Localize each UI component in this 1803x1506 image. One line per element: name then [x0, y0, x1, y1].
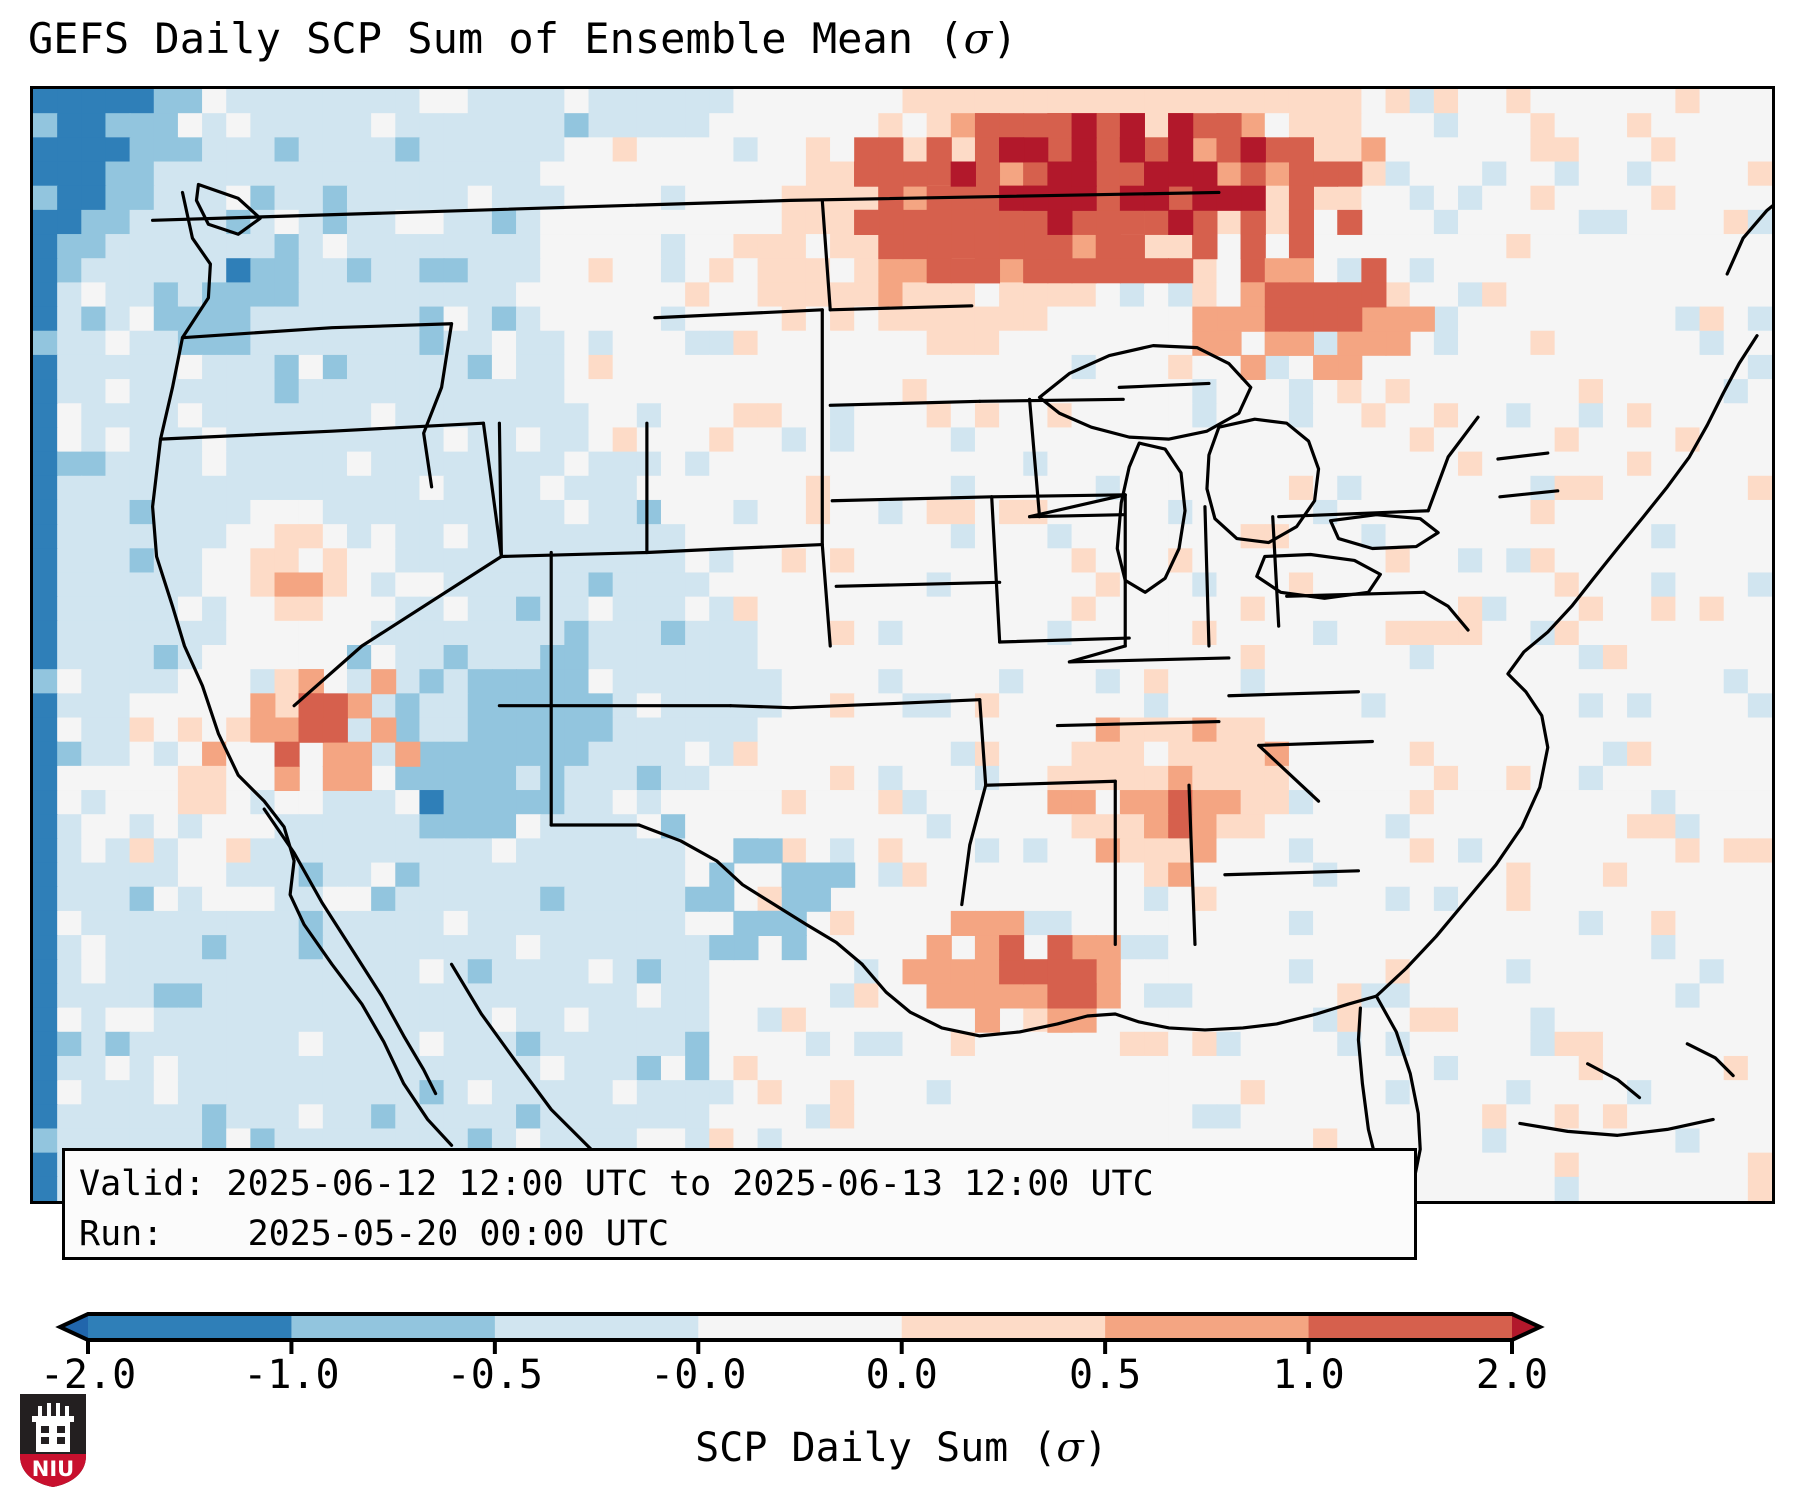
grid-cell — [878, 113, 903, 138]
grid-cell — [57, 1080, 82, 1105]
grid-cell — [1289, 210, 1314, 235]
grid-cell — [733, 186, 758, 211]
grid-cell — [516, 645, 541, 670]
grid-cell — [1555, 959, 1580, 984]
grid-cell — [395, 693, 420, 718]
grid-cell — [1386, 742, 1411, 767]
grid-cell — [516, 621, 541, 646]
grid-cell — [1410, 911, 1435, 936]
grid-cell — [419, 162, 444, 187]
grid-cell — [130, 258, 155, 283]
grid-cell — [323, 403, 348, 428]
grid-cell — [927, 282, 952, 307]
grid-cell — [927, 1032, 952, 1057]
grid-cell — [903, 935, 928, 960]
map-canvas[interactable] — [33, 89, 1772, 1201]
colorbar-svg[interactable] — [0, 1300, 1803, 1360]
grid-cell — [1192, 137, 1217, 162]
grid-cell — [1410, 307, 1435, 332]
grid-cell — [468, 355, 493, 380]
grid-cell — [1579, 983, 1604, 1008]
grid-cell — [1627, 887, 1652, 912]
grid-cell — [733, 113, 758, 138]
grid-cell — [1289, 959, 1314, 984]
grid-cell — [806, 983, 831, 1008]
grid-cell — [154, 838, 179, 863]
grid-cell — [1265, 476, 1290, 501]
grid-cell — [1337, 935, 1362, 960]
grid-cell — [371, 476, 396, 501]
grid-cell — [1458, 669, 1483, 694]
grid-cell — [927, 113, 952, 138]
grid-cell — [1144, 524, 1169, 549]
colorbar[interactable] — [0, 1300, 1803, 1360]
grid-cell — [226, 500, 251, 525]
grid-cell — [347, 331, 372, 356]
grid-cell — [709, 379, 734, 404]
grid-cell — [927, 500, 952, 525]
grid-cell — [1120, 355, 1145, 380]
grid-cell — [685, 766, 710, 791]
grid-cell — [661, 282, 686, 307]
grid-cell — [1047, 1056, 1072, 1081]
grid-cell — [347, 693, 372, 718]
grid-cell — [1096, 693, 1121, 718]
grid-cell — [709, 935, 734, 960]
grid-cell — [878, 838, 903, 863]
grid-cell — [613, 234, 638, 259]
grid-cell — [1241, 113, 1266, 138]
grid-cell — [806, 1056, 831, 1081]
grid-cell — [492, 452, 517, 477]
grid-cell — [1047, 548, 1072, 573]
grid-cell — [854, 162, 879, 187]
grid-cell — [1265, 307, 1290, 332]
grid-cell — [1748, 282, 1772, 307]
grid-cell — [419, 113, 444, 138]
grid-cell — [1603, 89, 1628, 114]
grid-cell — [492, 234, 517, 259]
grid-cell — [564, 766, 589, 791]
grid-cell — [589, 983, 614, 1008]
grid-cell — [951, 548, 976, 573]
grid-cell — [1096, 210, 1121, 235]
grid-cell — [1506, 935, 1531, 960]
grid-cell — [130, 331, 155, 356]
grid-cell — [637, 476, 662, 501]
grid-cell — [1313, 1056, 1338, 1081]
grid-cell — [395, 186, 420, 211]
grid-cell — [275, 1008, 300, 1033]
grid-cell — [105, 887, 130, 912]
grid-cell — [1458, 452, 1483, 477]
grid-cell — [419, 742, 444, 767]
grid-cell — [1120, 89, 1145, 114]
grid-cell — [1023, 935, 1048, 960]
grid-cell — [903, 838, 928, 863]
grid-cell — [999, 500, 1024, 525]
grid-cell — [250, 718, 275, 743]
grid-cell — [395, 742, 420, 767]
grid-cell — [154, 766, 179, 791]
grid-cell — [564, 427, 589, 452]
grid-cell — [1361, 403, 1386, 428]
grid-cell — [999, 89, 1024, 114]
grid-cell — [105, 186, 130, 211]
colorbar-band — [1105, 1314, 1309, 1340]
grid-cell — [516, 452, 541, 477]
grid-cell — [1410, 742, 1435, 767]
grid-cell — [1216, 766, 1241, 791]
grid-cell — [1579, 863, 1604, 888]
grid-cell — [1555, 476, 1580, 501]
grid-cell — [226, 403, 251, 428]
grid-cell — [395, 572, 420, 597]
grid-cell — [57, 186, 82, 211]
grid-cell — [830, 234, 855, 259]
grid-cell — [709, 814, 734, 839]
grid-cell — [1530, 597, 1555, 622]
grid-cell — [709, 234, 734, 259]
page-title-sigma: σ — [964, 14, 993, 63]
grid-cell — [830, 983, 855, 1008]
grid-cell — [1434, 282, 1459, 307]
grid-cell — [1458, 718, 1483, 743]
grid-cell — [589, 113, 614, 138]
grid-cell — [1506, 403, 1531, 428]
grid-cell — [1434, 1008, 1459, 1033]
grid-cell — [878, 331, 903, 356]
grid-cell — [1241, 959, 1266, 984]
grid-cell — [419, 911, 444, 936]
grid-cell — [130, 814, 155, 839]
grid-cell — [1675, 210, 1700, 235]
grid-cell — [1675, 669, 1700, 694]
grid-cell — [250, 1032, 275, 1057]
grid-cell — [371, 597, 396, 622]
grid-cell — [1700, 1080, 1725, 1105]
grid-cell — [1748, 452, 1772, 477]
grid-cell — [275, 307, 300, 332]
grid-cell — [540, 452, 565, 477]
grid-cell — [999, 355, 1024, 380]
grid-cell — [540, 307, 565, 332]
grid-cell — [105, 548, 130, 573]
grid-cell — [854, 403, 879, 428]
grid-cell — [1555, 911, 1580, 936]
grid-cell — [1386, 1104, 1411, 1129]
grid-cell — [1337, 258, 1362, 283]
grid-cell — [1627, 814, 1652, 839]
map-panel[interactable] — [30, 86, 1775, 1204]
grid-cell — [999, 887, 1024, 912]
grid-cell — [878, 355, 903, 380]
grid-cell — [733, 89, 758, 114]
grid-cell — [878, 1032, 903, 1057]
grid-cell — [1603, 258, 1628, 283]
grid-cell — [661, 1104, 686, 1129]
grid-cell — [927, 814, 952, 839]
grid-cell — [1120, 282, 1145, 307]
grid-cell — [275, 234, 300, 259]
grid-cell — [226, 307, 251, 332]
grid-cell — [1675, 742, 1700, 767]
grid-cell — [1386, 548, 1411, 573]
grid-cell — [1458, 693, 1483, 718]
grid-cell — [927, 403, 952, 428]
grid-cell — [589, 452, 614, 477]
grid-cell — [854, 742, 879, 767]
grid-cell — [999, 331, 1024, 356]
grid-cell — [516, 403, 541, 428]
grid-cell — [226, 959, 251, 984]
grid-cell — [733, 331, 758, 356]
grid-cell — [1144, 307, 1169, 332]
grid-cell — [1506, 210, 1531, 235]
grid-cell — [733, 210, 758, 235]
grid-cell — [1241, 983, 1266, 1008]
grid-cell — [1748, 210, 1772, 235]
grid-cell — [1313, 379, 1338, 404]
grid-cell — [419, 137, 444, 162]
grid-cell — [202, 307, 227, 332]
grid-cell — [1168, 234, 1193, 259]
grid-cell — [564, 210, 589, 235]
grid-cell — [782, 1056, 807, 1081]
grid-cell — [564, 863, 589, 888]
grid-cell — [1579, 186, 1604, 211]
grid-cell — [1724, 307, 1749, 332]
grid-cell — [1168, 1032, 1193, 1057]
grid-cell — [1724, 983, 1749, 1008]
grid-cell — [661, 645, 686, 670]
grid-cell — [1700, 1177, 1725, 1201]
grid-cell — [1144, 1008, 1169, 1033]
grid-cell — [33, 379, 58, 404]
grid-cell — [1216, 210, 1241, 235]
grid-cell — [1579, 1008, 1604, 1033]
grid-cell — [999, 1104, 1024, 1129]
grid-cell — [540, 331, 565, 356]
grid-cell — [1192, 693, 1217, 718]
grid-cell — [154, 887, 179, 912]
grid-cell — [444, 427, 469, 452]
grid-cell — [1313, 742, 1338, 767]
grid-cell — [733, 452, 758, 477]
grid-cell — [661, 887, 686, 912]
grid-cell — [903, 89, 928, 114]
grid-cell — [178, 1080, 203, 1105]
grid-cell — [371, 1104, 396, 1129]
grid-cell — [975, 234, 1000, 259]
grid-cell — [33, 1104, 58, 1129]
grid-cell — [733, 1080, 758, 1105]
grid-cell — [371, 1080, 396, 1105]
grid-cell — [806, 959, 831, 984]
grid-cell — [1144, 355, 1169, 380]
grid-cell — [1096, 887, 1121, 912]
grid-cell — [371, 500, 396, 525]
grid-cell — [516, 113, 541, 138]
grid-cell — [758, 379, 783, 404]
grid-cell — [999, 452, 1024, 477]
grid-cell — [1506, 572, 1531, 597]
grid-cell — [1530, 1128, 1555, 1153]
grid-cell — [1555, 693, 1580, 718]
grid-cell — [1651, 379, 1676, 404]
grid-cell — [661, 742, 686, 767]
grid-cell — [468, 1032, 493, 1057]
grid-cell — [1072, 1104, 1097, 1129]
grid-cell — [999, 645, 1024, 670]
grid-cell — [564, 645, 589, 670]
grid-cell — [57, 548, 82, 573]
grid-cell — [81, 718, 106, 743]
grid-cell — [1241, 452, 1266, 477]
grid-cell — [1096, 258, 1121, 283]
grid-cell — [758, 162, 783, 187]
grid-cell — [81, 524, 106, 549]
grid-cell — [685, 427, 710, 452]
grid-cell — [1072, 331, 1097, 356]
grid-cell — [1410, 814, 1435, 839]
grid-cell — [758, 476, 783, 501]
grid-cell — [130, 959, 155, 984]
grid-cell — [1386, 427, 1411, 452]
grid-cell — [395, 911, 420, 936]
grid-cell — [951, 258, 976, 283]
grid-cell — [589, 162, 614, 187]
grid-cell — [1386, 355, 1411, 380]
grid-cell — [1627, 1080, 1652, 1105]
grid-cell — [1482, 137, 1507, 162]
grid-cell — [250, 282, 275, 307]
grid-cell — [105, 911, 130, 936]
grid-cell — [830, 548, 855, 573]
grid-cell — [782, 621, 807, 646]
grid-cell — [275, 89, 300, 114]
grid-cell — [1047, 887, 1072, 912]
grid-cell — [733, 790, 758, 815]
grid-cell — [250, 1104, 275, 1129]
grid-cell — [516, 1008, 541, 1033]
colorbar-tick-labels: -2.0-1.0-0.5-0.00.00.51.02.0 — [0, 1352, 1803, 1412]
grid-cell — [1313, 814, 1338, 839]
grid-cell — [878, 89, 903, 114]
grid-cell — [1627, 742, 1652, 767]
grid-cell — [637, 403, 662, 428]
grid-cell — [1337, 162, 1362, 187]
grid-cell — [782, 476, 807, 501]
grid-cell — [637, 669, 662, 694]
grid-cell — [347, 669, 372, 694]
grid-cell — [685, 959, 710, 984]
grid-cell — [347, 355, 372, 380]
grid-cell — [1361, 476, 1386, 501]
grid-cell — [105, 427, 130, 452]
grid-cell — [878, 597, 903, 622]
grid-cell — [1530, 935, 1555, 960]
grid-cell — [709, 1104, 734, 1129]
grid-cell — [927, 307, 952, 332]
grid-cell — [613, 258, 638, 283]
grid-cell — [395, 307, 420, 332]
grid-cell — [492, 1080, 517, 1105]
grid-cell — [613, 766, 638, 791]
grid-cell — [202, 911, 227, 936]
grid-cell — [1072, 137, 1097, 162]
grid-cell — [637, 1080, 662, 1105]
grid-cell — [1700, 572, 1725, 597]
grid-cell — [733, 911, 758, 936]
grid-cell — [1458, 186, 1483, 211]
grid-cell — [226, 162, 251, 187]
grid-cell — [1434, 814, 1459, 839]
grid-cell — [323, 814, 348, 839]
grid-cell — [1530, 186, 1555, 211]
grid-cell — [709, 186, 734, 211]
grid-cell — [1555, 1080, 1580, 1105]
grid-cell — [1482, 500, 1507, 525]
grid-cell — [1627, 307, 1652, 332]
grid-cell — [419, 234, 444, 259]
grid-cell — [661, 766, 686, 791]
grid-cell — [1023, 838, 1048, 863]
grid-cell — [1748, 162, 1772, 187]
grid-cell — [854, 427, 879, 452]
grid-cell — [1120, 1056, 1145, 1081]
grid-cell — [1241, 282, 1266, 307]
grid-cell — [130, 572, 155, 597]
grid-cell — [782, 548, 807, 573]
grid-cell — [1724, 645, 1749, 670]
grid-cell — [57, 863, 82, 888]
grid-cell — [1555, 572, 1580, 597]
grid-cell — [130, 476, 155, 501]
grid-cell — [1603, 1104, 1628, 1129]
grid-cell — [468, 234, 493, 259]
grid-cell — [323, 379, 348, 404]
grid-cell — [105, 742, 130, 767]
grid-cell — [1216, 887, 1241, 912]
grid-cell — [444, 669, 469, 694]
grid-cell — [1313, 258, 1338, 283]
grid-cell — [1458, 307, 1483, 332]
grid-cell — [1555, 89, 1580, 114]
grid-cell — [1023, 1056, 1048, 1081]
grid-cell — [1216, 258, 1241, 283]
grid-cell — [903, 452, 928, 477]
grid-cell — [105, 766, 130, 791]
grid-cell — [830, 355, 855, 380]
grid-cell — [1120, 959, 1145, 984]
grid-cell — [1555, 814, 1580, 839]
grid-cell — [709, 669, 734, 694]
grid-cell — [661, 137, 686, 162]
grid-cell — [1579, 742, 1604, 767]
grid-cell — [540, 959, 565, 984]
grid-cell — [33, 427, 58, 452]
grid-cell — [1072, 234, 1097, 259]
grid-cell — [202, 137, 227, 162]
grid-cell — [444, 379, 469, 404]
grid-cell — [1579, 379, 1604, 404]
grid-cell — [105, 234, 130, 259]
grid-cell — [927, 959, 952, 984]
grid-cell — [468, 427, 493, 452]
grid-cell — [1700, 355, 1725, 380]
grid-cell — [444, 1056, 469, 1081]
